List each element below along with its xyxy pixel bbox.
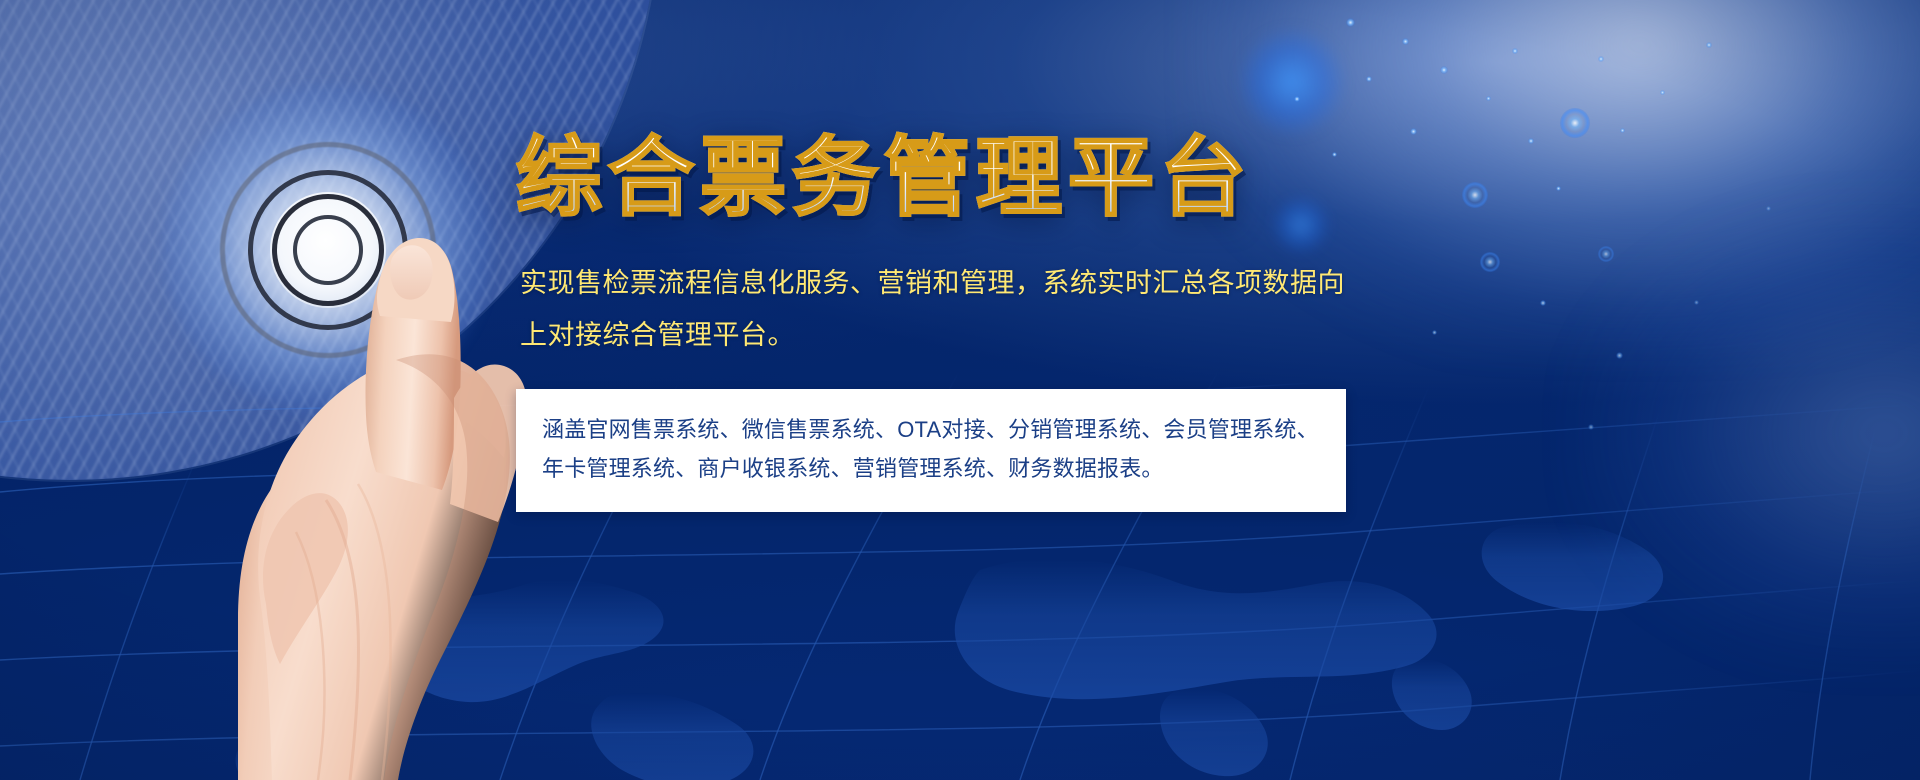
banner-content: 综合票务管理平台 实现售检票流程信息化服务、营销和管理，系统实时汇总各项数据向上… xyxy=(516,128,1396,512)
page-title: 综合票务管理平台 xyxy=(516,128,1396,228)
feature-list-text: 涵盖官网售票系统、微信售票系统、OTA对接、分销管理系统、会员管理系统、年卡管理… xyxy=(542,411,1320,488)
feature-list-box: 涵盖官网售票系统、微信售票系统、OTA对接、分销管理系统、会员管理系统、年卡管理… xyxy=(516,389,1346,512)
banner-subtitle: 实现售检票流程信息化服务、营销和管理，系统实时汇总各项数据向上对接综合管理平台。 xyxy=(520,258,1372,363)
banner-stage: 综合票务管理平台 实现售检票流程信息化服务、营销和管理，系统实时汇总各项数据向上… xyxy=(0,0,1920,780)
